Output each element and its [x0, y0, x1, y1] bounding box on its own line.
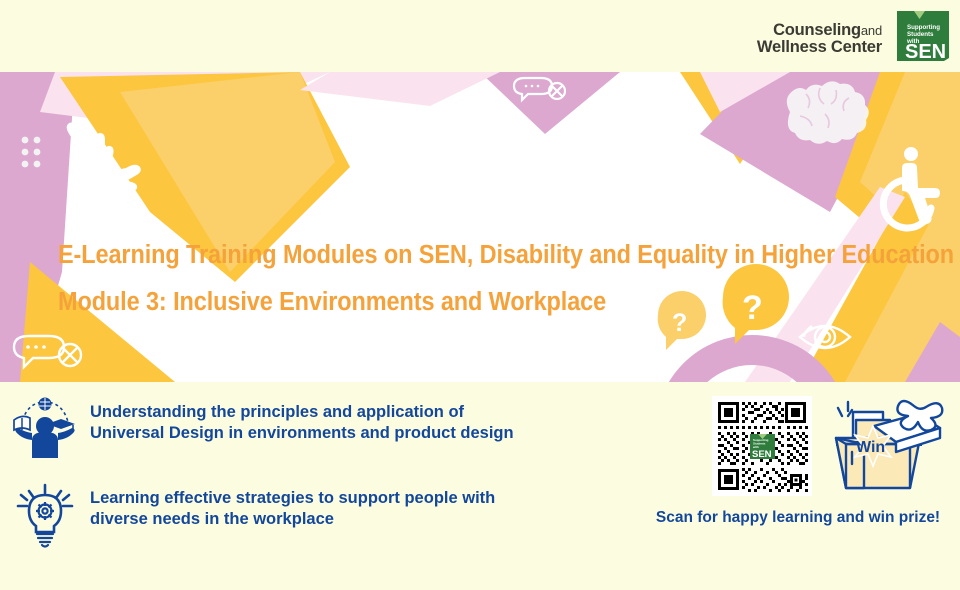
sen-logo-line-1: Supporting [907, 24, 940, 31]
list-item: Learning effective strategies to support… [12, 482, 632, 548]
banner-title-line-1: E-Learning Training Modules on SEN, Disa… [58, 232, 868, 279]
qr-code[interactable]: Supporting Students with SEN [712, 396, 812, 496]
brand-word-and: and [861, 23, 882, 38]
svg-text:SEN: SEN [752, 449, 772, 460]
prize-gift-box-icon: Win [822, 390, 944, 502]
brand-name-counseling: Counseling [773, 21, 861, 39]
banner-decoration: ? ? [0, 72, 960, 382]
bullet-2-line-1: Learning effective strategies to support… [90, 489, 495, 507]
win-card-label: Win [856, 439, 885, 456]
brand-lockup: Counselingand Wellness Center [757, 22, 882, 57]
banner-title-line-2: Module 3: Inclusive Environments and Wor… [58, 279, 868, 326]
scan-caption: Scan for happy learning and win prize! [648, 509, 948, 527]
bullet-1-line-2: Universal Design in environments and pro… [90, 424, 514, 442]
list-item-text: Understanding the principles and applica… [90, 402, 514, 444]
banner-title-block: E-Learning Training Modules on SEN, Disa… [58, 232, 938, 326]
sen-logo-acronym: SEN [905, 41, 946, 63]
list-item: Understanding the principles and applica… [12, 396, 632, 462]
lightbulb-gear-idea-icon [12, 482, 78, 548]
list-item-text: Learning effective strategies to support… [90, 488, 495, 530]
sen-logo-line-2: Students [907, 31, 934, 38]
hero-banner: ? ? E-Learning Training Modules on SEN, … [0, 72, 960, 382]
person-learning-globe-book-cap-icon [12, 396, 78, 462]
qr-center-sen-logo: Supporting Students with SEN [750, 434, 775, 460]
brand-line-1: Counselingand [757, 22, 882, 39]
sen-logo: Supporting Students with SEN [894, 8, 952, 64]
page-header: Counselingand Wellness Center Supporting… [0, 0, 960, 72]
bottom-section: Understanding the principles and applica… [0, 382, 960, 590]
bullet-2-line-2: diverse needs in the workplace [90, 510, 334, 528]
bullet-1-line-1: Understanding the principles and applica… [90, 403, 464, 421]
brand-line-2: Wellness Center [757, 39, 882, 56]
